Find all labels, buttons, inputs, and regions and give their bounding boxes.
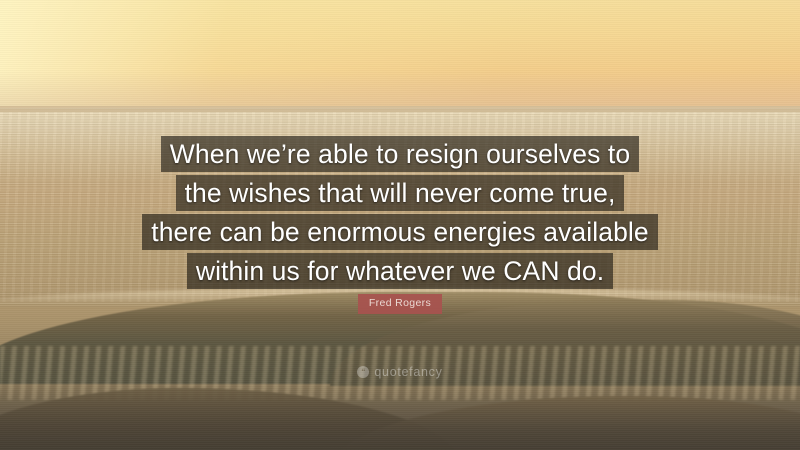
brand-name: quotefancy bbox=[374, 366, 442, 379]
quote-line: the wishes that will never come true, bbox=[176, 175, 625, 211]
quote-mark-glyph: “ bbox=[361, 368, 365, 376]
brand-watermark: “ quotefancy bbox=[0, 366, 800, 379]
quote-line: there can be enormous energies available bbox=[142, 214, 658, 250]
quote-line: within us for whatever we CAN do. bbox=[187, 253, 613, 289]
quote-mark-icon: “ bbox=[357, 366, 369, 378]
quote-line: When we’re able to resign ourselves to bbox=[161, 136, 639, 172]
bottom-vignette bbox=[0, 380, 800, 450]
quote-text-block: When we’re able to resign ourselves to t… bbox=[0, 136, 800, 289]
author-attribution: Fred Rogers bbox=[0, 294, 800, 314]
wallpaper-canvas: When we’re able to resign ourselves to t… bbox=[0, 0, 800, 450]
author-badge[interactable]: Fred Rogers bbox=[358, 294, 442, 314]
